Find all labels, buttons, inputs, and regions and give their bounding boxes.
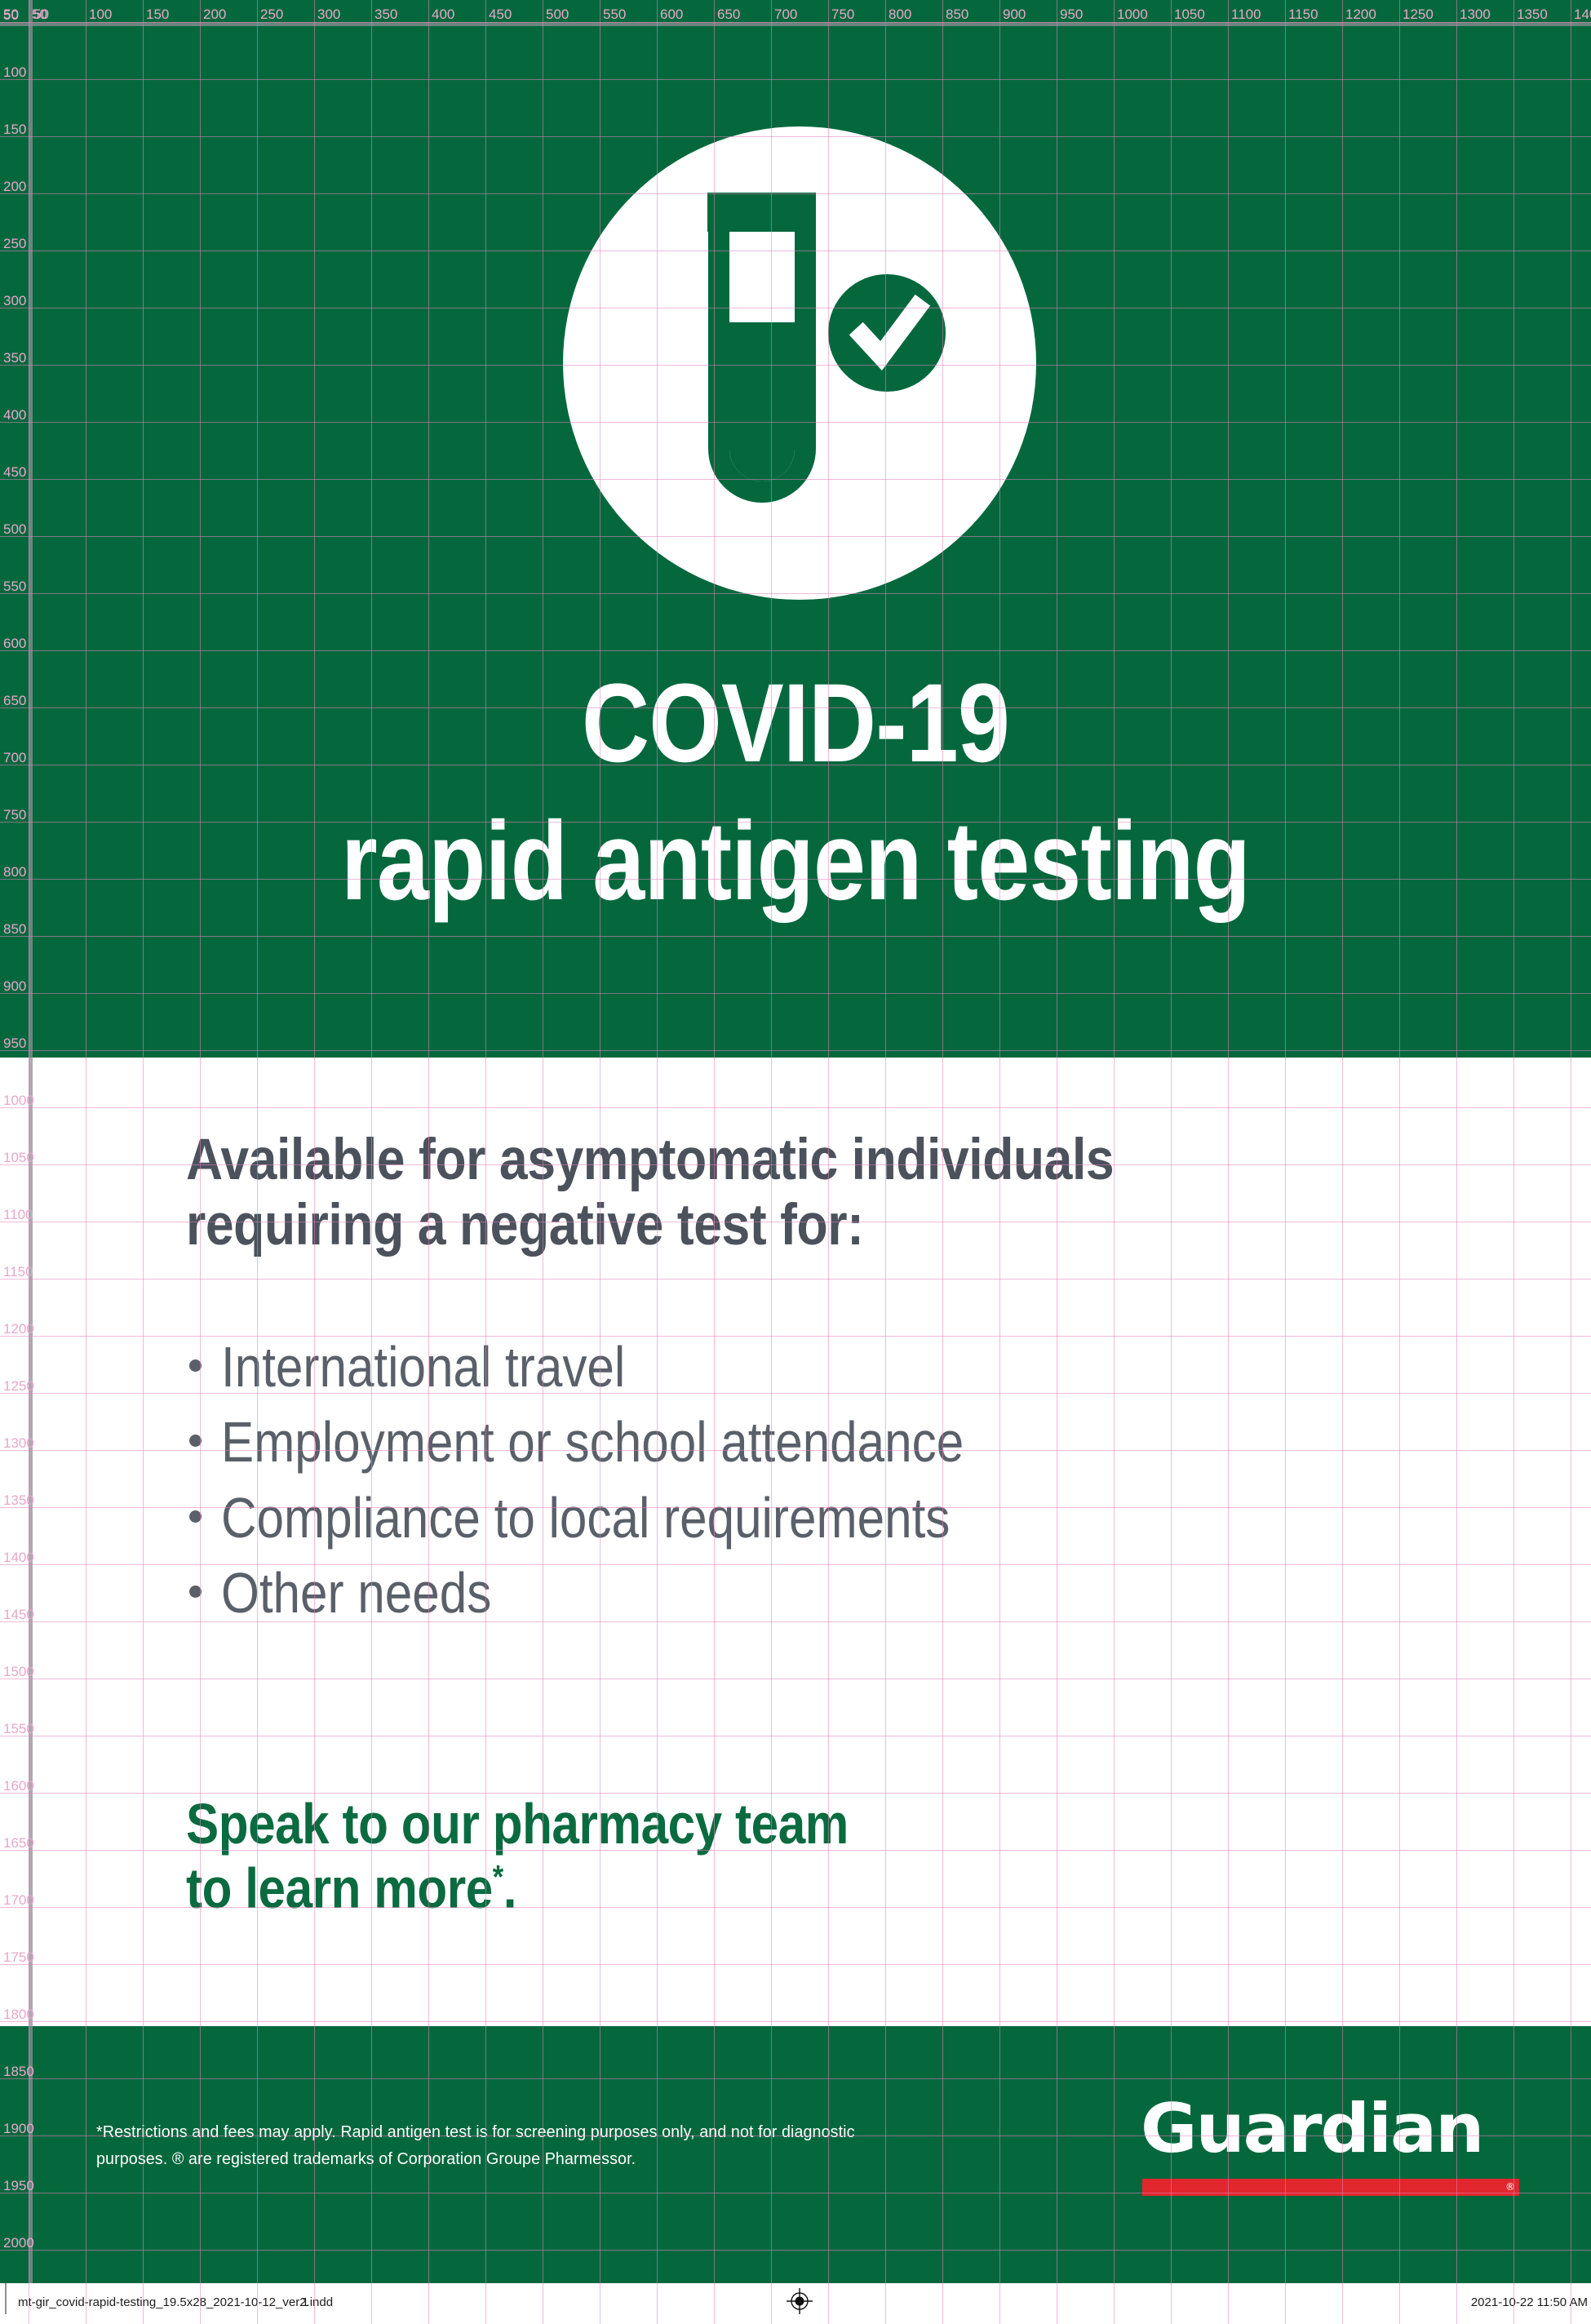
vertical-guide	[1285, 2283, 1286, 2324]
cta-asterisk: *	[493, 1860, 503, 1896]
legal-disclaimer: *Restrictions and fees may apply. Rapid …	[96, 2118, 937, 2172]
vertical-guide	[371, 2283, 372, 2324]
list-item: International travel	[186, 1335, 1508, 1399]
guardian-logo: Guardian ®	[1141, 2097, 1521, 2195]
vertical-guide	[1456, 2283, 1457, 2324]
artboard: COVID-19 rapid antigen testing Available…	[0, 0, 1591, 2283]
list-item-label: Other needs	[221, 1561, 491, 1625]
vertical-guide	[600, 2283, 601, 2324]
list-item: Compliance to local requirements	[186, 1486, 1508, 1550]
vertical-guide	[885, 2283, 886, 2324]
list-item-label: Employment or school attendance	[221, 1410, 964, 1474]
vertical-guide	[771, 2283, 772, 2324]
proof-page: COVID-19 rapid antigen testing Available…	[0, 0, 1591, 2324]
slug-bar: mt-gir_covid-rapid-testing_19.5x28_2021-…	[0, 2283, 1591, 2324]
list-item: Other needs	[186, 1561, 1508, 1625]
vertical-guide	[999, 2283, 1000, 2324]
bullet-dot-icon	[189, 1586, 202, 1598]
lede-line-1: Available for asymptomatic individuals	[186, 1128, 1306, 1193]
guardian-wordmark: Guardian	[1141, 2097, 1528, 2162]
slug-left-rule	[5, 2283, 7, 2314]
cta-line-1: Speak to our pharmacy team	[186, 1792, 1203, 1856]
vertical-guide	[1513, 2283, 1514, 2324]
vertical-guide	[485, 2283, 486, 2324]
headline-line-1: COVID-19	[127, 667, 1464, 779]
cta-period: .	[503, 1856, 516, 1920]
vertical-guide	[314, 2283, 315, 2324]
bullet-dot-icon	[189, 1359, 202, 1372]
vertical-guide	[29, 2283, 29, 2324]
vertical-guide	[543, 2283, 543, 2324]
registration-target-mark	[783, 2285, 816, 2317]
vertical-guide	[143, 2283, 144, 2324]
list-item-label: International travel	[221, 1335, 625, 1399]
vertical-guide	[86, 2283, 86, 2324]
lede-paragraph: Available for asymptomatic individuals r…	[186, 1128, 1459, 1257]
vertical-guide	[1171, 2283, 1172, 2324]
vertical-guide	[828, 2283, 829, 2324]
disclaimer-line-1: *Restrictions and fees may apply. Rapid …	[96, 2118, 903, 2145]
vertical-guide	[1399, 2283, 1400, 2324]
call-to-action: Speak to our pharmacy team to learn more…	[186, 1792, 1369, 1921]
disclaimer-line-2: purposes. ® are registered trademarks of…	[96, 2145, 903, 2172]
vertical-guide	[942, 2283, 943, 2324]
list-item: Employment or school attendance	[186, 1410, 1508, 1474]
slug-filename: mt-gir_covid-rapid-testing_19.5x28_2021-…	[18, 2295, 333, 2309]
vertical-guide	[1228, 2283, 1229, 2324]
lede-line-2: requiring a negative test for:	[186, 1193, 1306, 1258]
page-title: COVID-19 rapid antigen testing	[0, 667, 1591, 917]
bullet-dot-icon	[189, 1510, 202, 1523]
test-tube-with-checkmark-icon	[551, 114, 1048, 612]
list-item-label: Compliance to local requirements	[221, 1486, 950, 1550]
reason-list: International travel Employment or schoo…	[186, 1335, 1508, 1637]
registered-trademark-icon: ®	[1505, 2181, 1515, 2193]
vertical-guide	[1114, 2283, 1115, 2324]
cta-line-2-wrapper: to learn more*.	[186, 1856, 1203, 1921]
vertical-guide	[1571, 2283, 1571, 2324]
vertical-guide	[257, 2283, 258, 2324]
cta-line-2: to learn more	[186, 1856, 493, 1920]
headline-line-2: rapid antigen testing	[127, 805, 1464, 917]
vertical-guide	[1057, 2283, 1057, 2324]
bullet-dot-icon	[189, 1435, 202, 1447]
slug-page-number: 1	[302, 2295, 308, 2309]
vertical-guide	[657, 2283, 658, 2324]
vertical-guide	[200, 2283, 201, 2324]
vertical-guide	[714, 2283, 715, 2324]
guardian-red-rule	[1142, 2179, 1519, 2196]
vertical-guide	[428, 2283, 429, 2324]
vertical-guide	[1342, 2283, 1343, 2324]
